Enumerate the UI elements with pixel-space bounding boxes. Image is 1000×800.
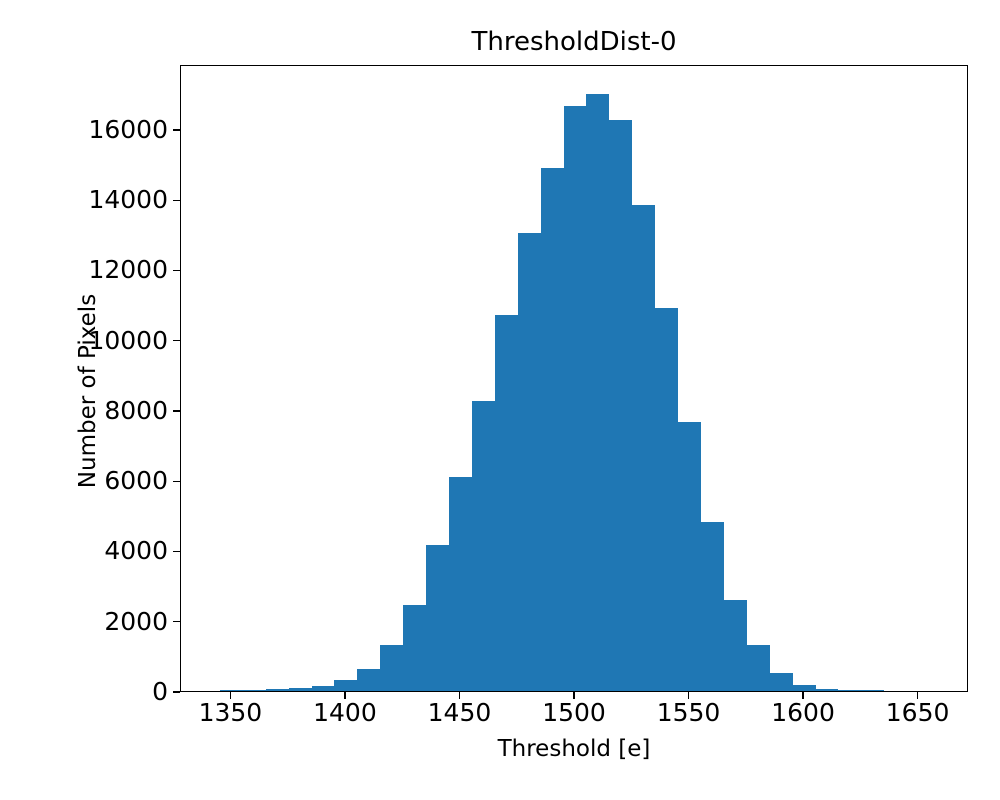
y-axis-label: Number of Pixels (75, 241, 101, 541)
x-tick-label: 1350 (180, 700, 280, 725)
x-tick-label: 1400 (295, 700, 395, 725)
x-tick-label: 1450 (409, 700, 509, 725)
histogram-figure: ThresholdDist-0 020004000600080001000012… (0, 0, 1000, 800)
x-tick-label: 1550 (639, 700, 739, 725)
x-tick-label: 1650 (868, 700, 968, 725)
x-axis-ticks: 1350140014501500155016001650 (0, 0, 1000, 800)
x-axis-label: Threshold [e] (180, 736, 968, 762)
x-tick-label: 1500 (524, 700, 624, 725)
x-tick-label: 1600 (753, 700, 853, 725)
